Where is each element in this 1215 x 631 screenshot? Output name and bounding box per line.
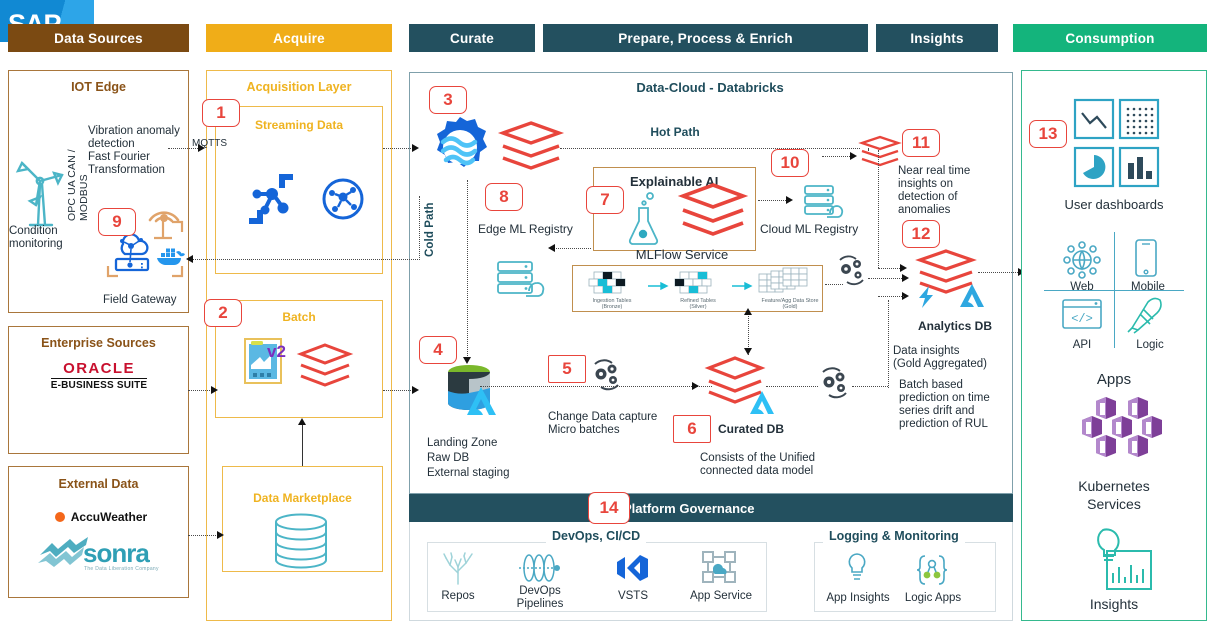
callout-badge-14[interactable]: 14 [588,492,630,524]
near-real-time-line-4: anomalies [898,204,994,218]
data-factory-v2-icon: v2 [243,335,285,385]
callout-badge-7[interactable]: 7 [586,186,624,214]
header-label: Acquire [273,31,325,46]
diagram-canvas: Data Sources Acquire Curate Prepare, Pro… [0,0,1215,631]
arrow-11-to-12 [900,264,907,272]
data-marketplace-title: Data Marketplace [222,491,383,505]
logic-apps-icon [915,553,949,585]
pie-chart-icon [1074,147,1114,187]
callout-badge-3[interactable]: 3 [429,86,467,114]
conn-batch-to-landing [383,390,415,391]
databricks-mlflow-icon [680,182,746,240]
azure-synapse-icon [915,285,939,309]
callout-badge-11[interactable]: 11 [902,129,940,157]
accuweather-wordmark: AccuWeather [71,510,147,524]
accuweather-sun-icon [53,510,67,524]
mobile-icon [1133,239,1159,279]
callout-badge-5[interactable]: 5 [548,355,586,383]
medallion-stage-0-tier: (Bronze) [575,304,649,310]
callout-badge-12[interactable]: 12 [902,220,940,248]
curated-db-label: Curated DB [718,423,808,437]
iot-feature-line-2: detection [88,138,188,152]
streaming-data-title: Streaming Data [215,118,383,132]
arrow-batch-to-landing [412,386,419,394]
cdc-line-1: Change Data capture [548,411,678,425]
near-real-time-line-1: Near real time [898,165,994,179]
oracle-subtitle: E-BUSINESS SUITE [51,378,148,391]
logic-icon [1126,296,1166,334]
feature-agg-gold-icon [757,268,815,298]
header-label: Consumption [1065,31,1154,46]
databricks-icon [298,343,352,389]
callout-badge-8[interactable]: 8 [485,183,523,211]
landing-zone-line-3: External staging [427,467,537,481]
edge-ml-registry-icon [495,258,549,304]
curated-db-line-1: Consists of the Unified [700,452,850,466]
arrow-cold-path-down [463,357,471,364]
callout-badge-1[interactable]: 1 [202,99,240,127]
sonra-wordmark: sonra [83,538,149,569]
app-insights-label: App Insights [823,592,893,606]
header-consumption: Consumption [1013,24,1207,52]
azure-data-lake-curated-icon [748,390,776,416]
azure-data-lake-icon [958,283,986,309]
conn-iot-to-streaming [168,148,200,149]
external-data-title: External Data [8,477,189,491]
logic-apps-label: Logic Apps [898,592,968,606]
arrow-mlflow-to-edgeml [548,244,555,252]
condition-monitoring-line-1: Condition [9,225,79,239]
iot-feature-line-1: Vibration anomaly [88,125,188,139]
medallion-stage-1-tier: (Silver) [661,304,735,310]
near-real-time-line-3: detection of [898,191,994,205]
arrow-streaming-to-stream-analytics [412,144,419,152]
api-icon: </> [1062,299,1102,331]
medallion-stage-2-tier: (Gold) [746,304,834,310]
marketplace-to-batch-arrow [298,418,306,425]
conn-edge-back-vert [419,196,420,260]
conn-to-databricks-11 [822,156,852,157]
app-insights-icon [843,551,871,585]
user-dashboards-label: User dashboards [1031,198,1197,212]
sonra-tagline: The Data Liberation Company [84,566,162,572]
mlflow-service-label: MLFlow Service [612,248,752,262]
line-chart-icon [1074,99,1114,139]
dot-matrix-icon [1119,99,1159,139]
analytics-note-4: prediction on time [899,392,1009,406]
logging-title: Logging & Monitoring [823,529,965,543]
svg-text:</>: </> [1071,312,1093,326]
kubernetes-hex-icon [1080,395,1160,457]
databricks-title: Data-Cloud - Databricks [560,81,860,95]
header-label: Data Sources [54,31,143,46]
header-label: Insights [910,31,963,46]
oracle-wordmark: ORACLE [63,360,135,377]
stream-analytics-icon [425,114,495,180]
analytics-note-2: (Gold Aggregated) [893,358,1003,372]
bulb-chart-icon [1085,525,1155,591]
conn-analytics-to-consumption [978,272,1022,273]
repos-icon [441,551,475,585]
accuweather-logo: AccuWeather [40,508,160,526]
conn-curated-to-batchgears [766,386,818,387]
conn-streaming-to-stream-analytics [383,148,415,149]
kubernetes-label-2: Services [1031,498,1197,512]
analytics-note-1: Data insights [893,345,1003,359]
condition-monitoring-line-2: monitoring [9,238,79,252]
header-prepare: Prepare, Process & Enrich [543,24,868,52]
hot-path-gears-icon [836,256,868,284]
header-data-sources: Data Sources [8,24,189,52]
cold-path-label: Cold Path [424,185,436,257]
header-acquire: Acquire [206,24,392,52]
analytics-note-6: prediction of RUL [899,418,1009,432]
conn-batchgears-to-analytics [852,386,888,387]
near-real-time-line-2: insights on [898,178,994,192]
arrow-curated-to-gold [744,308,752,315]
callout-badge-6[interactable]: 6 [673,415,711,443]
conn-edge-back-to-gateway [192,259,420,260]
repos-label: Repos [428,590,488,604]
arrow-external-to-marketplace [217,531,224,539]
arrow-iot-to-streaming [198,144,205,152]
callout-badge-10[interactable]: 10 [771,149,809,177]
marketplace-to-batch-line [302,424,303,466]
header-curate: Curate [409,24,535,52]
governance-bar: Platform Governance [409,494,1013,522]
iot-protocols-label: OPC UA CAN / MODBUS [66,103,90,221]
curated-db-line-2: connected data model [700,465,850,479]
conn-hot-path-horiz [560,148,860,149]
kubernetes-label-1: Kubernetes [1031,480,1197,494]
wind-turbine-icon [14,155,66,227]
insights-consumption-label: Insights [1031,598,1197,612]
event-hub-icon [243,172,299,226]
mobile-label: Mobile [1118,281,1178,295]
web-icon [1062,240,1102,280]
header-label: Curate [450,31,494,46]
databricks-hot-icon [500,120,562,174]
vsts-label: VSTS [608,590,658,604]
ingestion-tables-bronze-icon [586,270,638,296]
acquisition-layer-title: Acquisition Layer [206,80,392,94]
app-service-label: App Service [686,590,756,604]
iot-feature-line-4: Transformation [88,164,188,178]
callout-badge-13[interactable]: 13 [1029,120,1067,148]
conn-mlflow-to-edgeml [553,248,591,249]
oracle-logo: ORACLE E-BUSINESS SUITE [48,358,150,392]
hot-path-label: Hot Path [620,126,730,140]
app-service-icon [701,550,737,584]
callout-badge-4[interactable]: 4 [419,336,457,364]
bar-chart-icon [1119,147,1159,187]
field-gateway-label: Field Gateway [103,294,193,308]
landing-zone-line-1: Landing Zone [427,437,537,451]
arrow-to-databricks-11 [850,152,857,160]
devops-pipelines-label-2: Pipelines [510,598,570,612]
databricks-stream-icon [860,135,900,169]
iot-hub-icon [320,176,366,222]
apps-label: Apps [1031,373,1197,387]
conn-batch-analytics-in [878,296,904,297]
svg-text:v2: v2 [267,342,286,361]
api-label: API [1052,339,1112,353]
conn-external-to-marketplace [188,535,220,536]
devops-pipelines-label-1: DevOps [510,585,570,599]
arrow-gears-to-analytics [902,274,909,282]
iot-edge-title: IOT Edge [8,80,189,94]
header-insights: Insights [876,24,998,52]
conn-11-to-12-h [878,268,902,269]
conn-gears-to-analytics [868,278,904,279]
cloud-registry-icon [802,183,848,227]
arrow-edge-back-to-gateway [186,255,193,263]
flask-icon [626,188,660,246]
conn-hot-to-db11 [868,148,869,150]
conn-cdc-to-curated [480,386,712,387]
conn-gold-to-gears [825,284,843,285]
docker-icon [154,243,186,269]
callout-badge-9[interactable]: 9 [98,208,136,236]
refined-tables-silver-icon [672,270,724,296]
conn-11-to-12 [878,150,879,268]
callout-badge-2[interactable]: 2 [204,299,242,327]
analytics-db-label: Analytics DB [900,320,1010,334]
arrow-gold-to-curated [744,348,752,355]
conn-batchgears-up [888,300,889,388]
vsts-icon [615,553,651,583]
cloud-ml-registry-label: Cloud ML Registry [760,223,872,237]
header-label: Prepare, Process & Enrich [618,31,793,46]
enterprise-sources-title: Enterprise Sources [8,336,189,350]
conn-cold-path-vert [467,180,468,360]
analytics-note-5: series drift and [899,405,1009,419]
governance-title: Platform Governance [623,501,755,516]
iot-feature-line-3: Fast Fourier [88,151,188,165]
devops-title: DevOps, CI/CD [546,529,646,543]
analytics-note-3: Batch based [899,379,1009,393]
medallion-arrow-1-icon [648,282,668,290]
arrow-enterprise-to-batch [211,386,218,394]
web-label: Web [1052,281,1112,295]
landing-zone-line-2: Raw DB [427,452,537,466]
logic-label: Logic [1120,339,1180,353]
analytics-gears-icon [818,368,852,398]
edge-ml-registry-label: Edge ML Registry [478,223,598,237]
arrow-cdc-to-curated [692,382,699,390]
devops-pipelines-icon [517,553,563,583]
medallion-arrow-2-icon [732,282,752,290]
arrow-mlflow-to-cloudml [786,196,793,204]
database-cylinder-icon [270,513,332,569]
data-lake-storage-icon [441,363,503,423]
cdc-line-2: Micro batches [548,424,678,438]
